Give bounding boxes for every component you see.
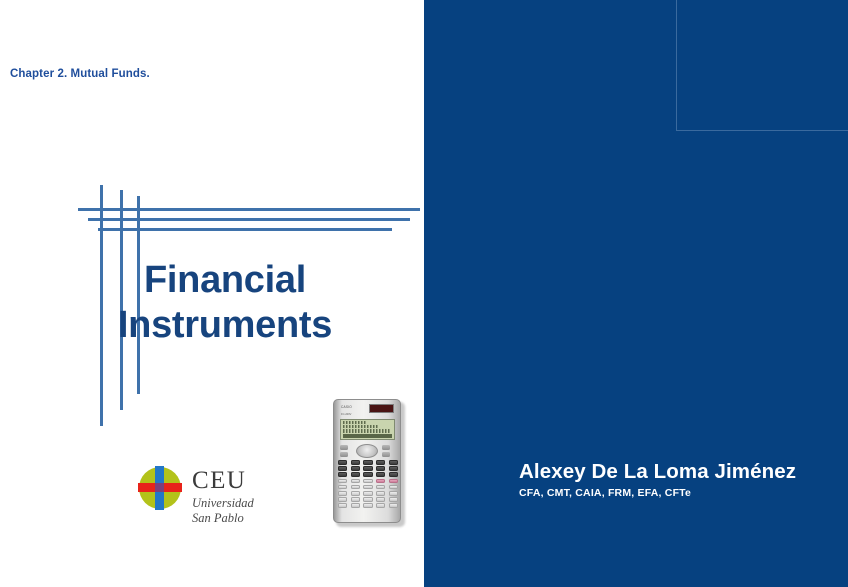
blue-side-panel — [424, 0, 848, 587]
calculator-key-row — [338, 460, 398, 465]
presentation-slide: Chapter 2. Mutual Funds. Financial Instr… — [0, 0, 848, 587]
calculator-display-line — [343, 425, 378, 428]
calculator-key — [376, 485, 385, 490]
calculator-key — [363, 479, 372, 484]
calculator-side-key — [382, 445, 390, 450]
calculator-key-row — [338, 466, 398, 471]
calculator-key — [338, 503, 347, 508]
calculator-key — [363, 491, 372, 496]
calculator-key — [351, 485, 360, 490]
calculator-model-label: FC-200V — [341, 413, 351, 416]
calculator-key-row — [338, 491, 398, 496]
calculator-key-row — [338, 479, 398, 484]
calculator-key — [389, 485, 398, 490]
calculator-key-row — [338, 485, 398, 490]
calculator-key-row — [338, 472, 398, 477]
calculator-replay-pad — [356, 444, 378, 458]
ceu-center-square-shape — [155, 483, 164, 492]
title-line-2: Instruments — [40, 303, 410, 348]
horizontal-accent-line-3 — [98, 228, 392, 231]
calculator-key — [338, 460, 347, 465]
ceu-tagline-line-2: San Pablo — [192, 511, 254, 526]
calculator-key — [376, 479, 385, 484]
calculator-key — [338, 472, 347, 477]
author-credentials: CFA, CMT, CAIA, FRM, EFA, CFTe — [519, 487, 796, 499]
calculator-solar-panel — [369, 404, 394, 413]
ceu-logo: CEU Universidad San Pablo — [138, 466, 254, 526]
panel-accent-box — [676, 0, 848, 131]
calculator-display-line — [343, 421, 366, 424]
calculator-key — [338, 479, 347, 484]
ceu-name: CEU — [192, 468, 254, 493]
calculator-key — [351, 460, 360, 465]
calculator-key — [351, 497, 360, 502]
ceu-logo-mark-icon — [138, 466, 182, 510]
calculator-key — [363, 497, 372, 502]
calculator-brand-label: CASIO — [341, 405, 352, 409]
calculator-key-row — [338, 503, 398, 508]
calculator-side-key — [340, 452, 348, 457]
calculator-body: CASIO FC-200V — [333, 399, 401, 523]
calculator-side-key — [382, 452, 390, 457]
ceu-wordmark: CEU Universidad San Pablo — [192, 466, 254, 526]
author-name: Alexey De La Loma Jiménez — [519, 461, 796, 484]
calculator-key — [389, 491, 398, 496]
calculator-key — [376, 491, 385, 496]
ceu-tagline: Universidad San Pablo — [192, 496, 254, 526]
calculator-key — [363, 503, 372, 508]
calculator-key — [351, 479, 360, 484]
calculator-key — [376, 497, 385, 502]
calculator-display-line — [343, 434, 392, 438]
calculator-key — [351, 503, 360, 508]
calculator-key — [389, 497, 398, 502]
calculator-key — [389, 466, 398, 471]
calculator-key — [363, 472, 372, 477]
calculator-key — [351, 491, 360, 496]
calculator-key — [376, 503, 385, 508]
calculator-key — [389, 503, 398, 508]
horizontal-accent-line-2 — [88, 218, 410, 221]
calculator-display — [340, 419, 395, 440]
author-block: Alexey De La Loma Jiménez CFA, CMT, CAIA… — [519, 461, 796, 499]
calculator-side-key — [340, 445, 348, 450]
calculator-key — [351, 466, 360, 471]
calculator-image: CASIO FC-200V — [333, 399, 405, 527]
calculator-key — [363, 466, 372, 471]
calculator-key — [338, 497, 347, 502]
calculator-key — [389, 479, 398, 484]
calculator-key — [351, 472, 360, 477]
calculator-display-line — [343, 429, 391, 432]
calculator-keypad — [338, 460, 398, 510]
calculator-key — [338, 466, 347, 471]
calculator-key — [338, 491, 347, 496]
calculator-key-row — [338, 497, 398, 502]
calculator-key — [376, 472, 385, 477]
title-line-1: Financial — [40, 258, 410, 303]
calculator-key — [363, 485, 372, 490]
horizontal-accent-line-1 — [78, 208, 420, 211]
calculator-key — [376, 466, 385, 471]
calculator-key — [338, 485, 347, 490]
calculator-key — [389, 460, 398, 465]
calculator-key — [389, 472, 398, 477]
page-title: Financial Instruments — [40, 258, 410, 348]
calculator-key — [363, 460, 372, 465]
calculator-key — [376, 460, 385, 465]
ceu-tagline-line-1: Universidad — [192, 496, 254, 511]
chapter-label: Chapter 2. Mutual Funds. — [10, 68, 150, 80]
